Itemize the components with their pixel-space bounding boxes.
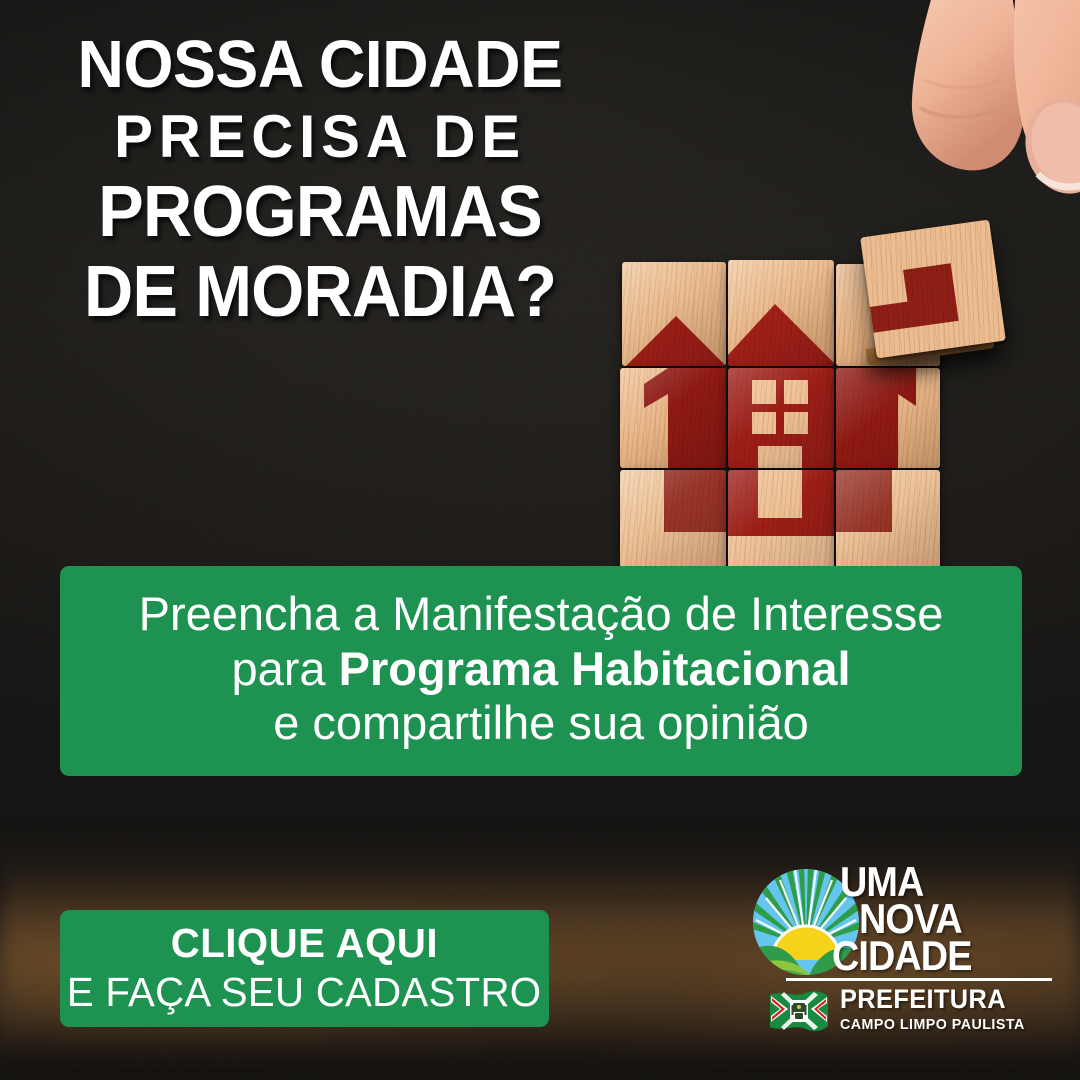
logo-brand-line-3: CIDADE <box>832 938 1030 975</box>
logo-brand-text: UMA NOVA CIDADE <box>840 864 1052 975</box>
logo-brand-row: UMA NOVA CIDADE <box>752 866 1052 974</box>
campo-limpo-paulista-flag-icon <box>768 989 830 1033</box>
block-r2c3-right-wall <box>836 368 940 468</box>
logo-org-label: PREFEITURA <box>840 986 1023 1014</box>
banner-line-2: para Programa Habitacional <box>231 642 850 697</box>
block-r1c2-roof-peak <box>728 260 834 366</box>
register-cta-button[interactable]: CLIQUE AQUI E FAÇA SEU CADASTRO <box>60 910 549 1027</box>
logo-divider <box>786 978 1052 981</box>
block-r3c2-door <box>728 470 834 570</box>
interest-form-banner: Preencha a Manifestação de Interesse par… <box>60 566 1022 776</box>
banner-line-2-prefix: para <box>231 642 338 695</box>
banner-line-2-emphasis: Programa Habitacional <box>339 642 851 695</box>
page-title: NOSSA CIDADE PRECISA DE PROGRAMAS DE MOR… <box>0 34 640 327</box>
headline-line-3: PROGRAMAS <box>16 179 624 247</box>
headline-line-4: DE MORADIA? <box>16 259 624 327</box>
headline-line-1: NOSSA CIDADE <box>13 34 627 97</box>
hand-placing-block <box>872 0 1080 260</box>
logo-city-label: CAMPO LIMPO PAULISTA <box>840 1016 1025 1034</box>
block-r2c1-left-wall <box>620 368 726 468</box>
city-hall-logo: UMA NOVA CIDADE <box>752 866 1052 1031</box>
logo-government-text: PREFEITURA CAMPO LIMPO PAULISTA <box>840 986 1034 1034</box>
banner-line-3: e compartilhe sua opinião <box>273 696 809 751</box>
cta-secondary-label: E FAÇA SEU CADASTRO <box>67 970 541 1016</box>
block-r2c2-windows <box>728 368 834 468</box>
cta-primary-label: CLIQUE AQUI <box>171 922 438 965</box>
banner-line-1: Preencha a Manifestação de Interesse <box>139 587 944 642</box>
block-r3c1 <box>620 470 726 570</box>
logo-government-row: PREFEITURA CAMPO LIMPO PAULISTA <box>768 988 1052 1034</box>
block-r3c3 <box>836 470 940 570</box>
headline-line-2: PRECISA DE <box>10 109 631 165</box>
poster-canvas: NOSSA CIDADE PRECISA DE PROGRAMAS DE MOR… <box>0 0 1080 1080</box>
